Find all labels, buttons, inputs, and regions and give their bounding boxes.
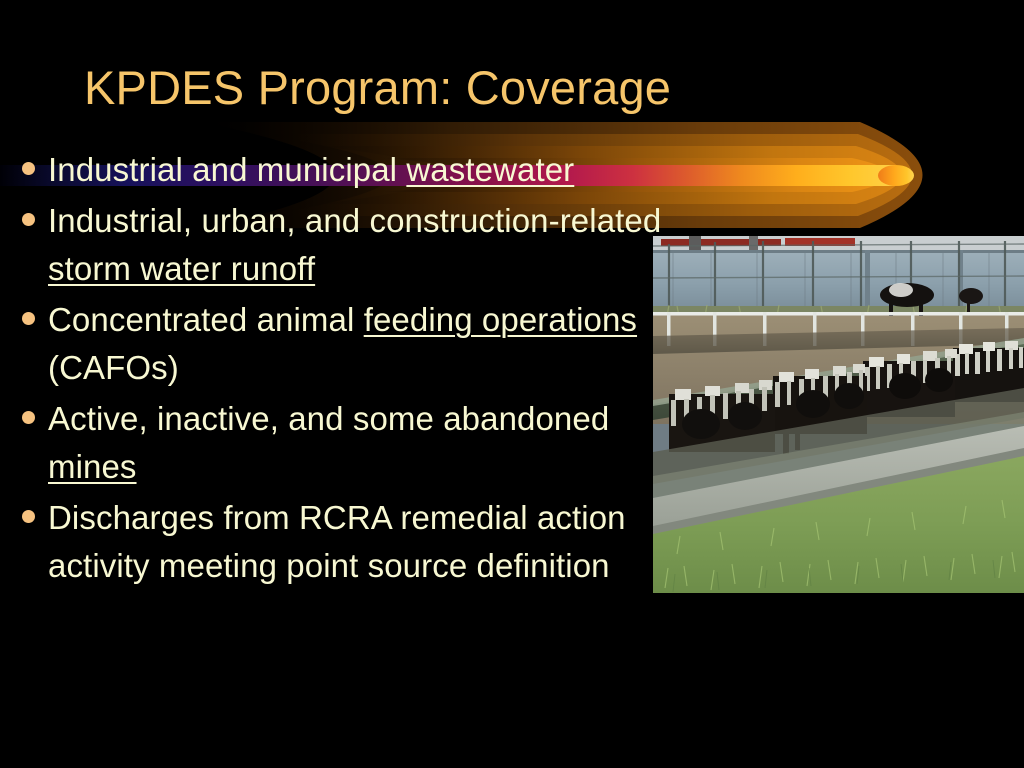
bullet-text: Discharges from RCRA remedial action act… bbox=[48, 494, 668, 590]
plain-text: Active, inactive, and some abandoned bbox=[48, 400, 609, 437]
bullet-text: Active, inactive, and some abandoned min… bbox=[48, 395, 668, 491]
plain-text: Industrial and municipal bbox=[48, 151, 406, 188]
bullet-dot-icon bbox=[8, 197, 48, 226]
plain-text: Concentrated animal bbox=[48, 301, 364, 338]
list-item: Active, inactive, and some abandoned min… bbox=[8, 395, 668, 491]
emphasis-underlined-text: storm water runoff bbox=[48, 250, 315, 287]
bullet-dot-icon bbox=[8, 296, 48, 325]
cafo-dairy-cattle-photo bbox=[653, 236, 1024, 593]
emphasis-underlined-text: feeding operations bbox=[364, 301, 637, 338]
bullet-list: Industrial and municipal wastewater Indu… bbox=[8, 146, 668, 593]
list-item: Industrial and municipal wastewater bbox=[8, 146, 668, 194]
emphasis-underlined-text: wastewater bbox=[406, 151, 574, 188]
bullet-text: Industrial, urban, and construction-rela… bbox=[48, 197, 668, 293]
plain-text: Discharges from RCRA remedial action act… bbox=[48, 499, 626, 584]
emphasis-underlined-text: mines bbox=[48, 448, 137, 485]
bullet-dot-icon bbox=[8, 146, 48, 175]
photo-image bbox=[653, 236, 1024, 593]
presentation-slide: KPDES Program: Coverage Industrial and m… bbox=[0, 0, 1024, 768]
list-item: Concentrated animal feeding operations (… bbox=[8, 296, 668, 392]
bullet-dot-icon bbox=[8, 494, 48, 523]
bullet-text: Concentrated animal feeding operations (… bbox=[48, 296, 668, 392]
bullet-text: Industrial and municipal wastewater bbox=[48, 146, 668, 194]
list-item: Discharges from RCRA remedial action act… bbox=[8, 494, 668, 590]
plain-text: (CAFOs) bbox=[48, 349, 179, 386]
slide-title: KPDES Program: Coverage bbox=[84, 60, 824, 116]
bullet-dot-icon bbox=[8, 395, 48, 424]
list-item: Industrial, urban, and construction-rela… bbox=[8, 197, 668, 293]
plain-text: Industrial, urban, and construction-rela… bbox=[48, 202, 661, 239]
